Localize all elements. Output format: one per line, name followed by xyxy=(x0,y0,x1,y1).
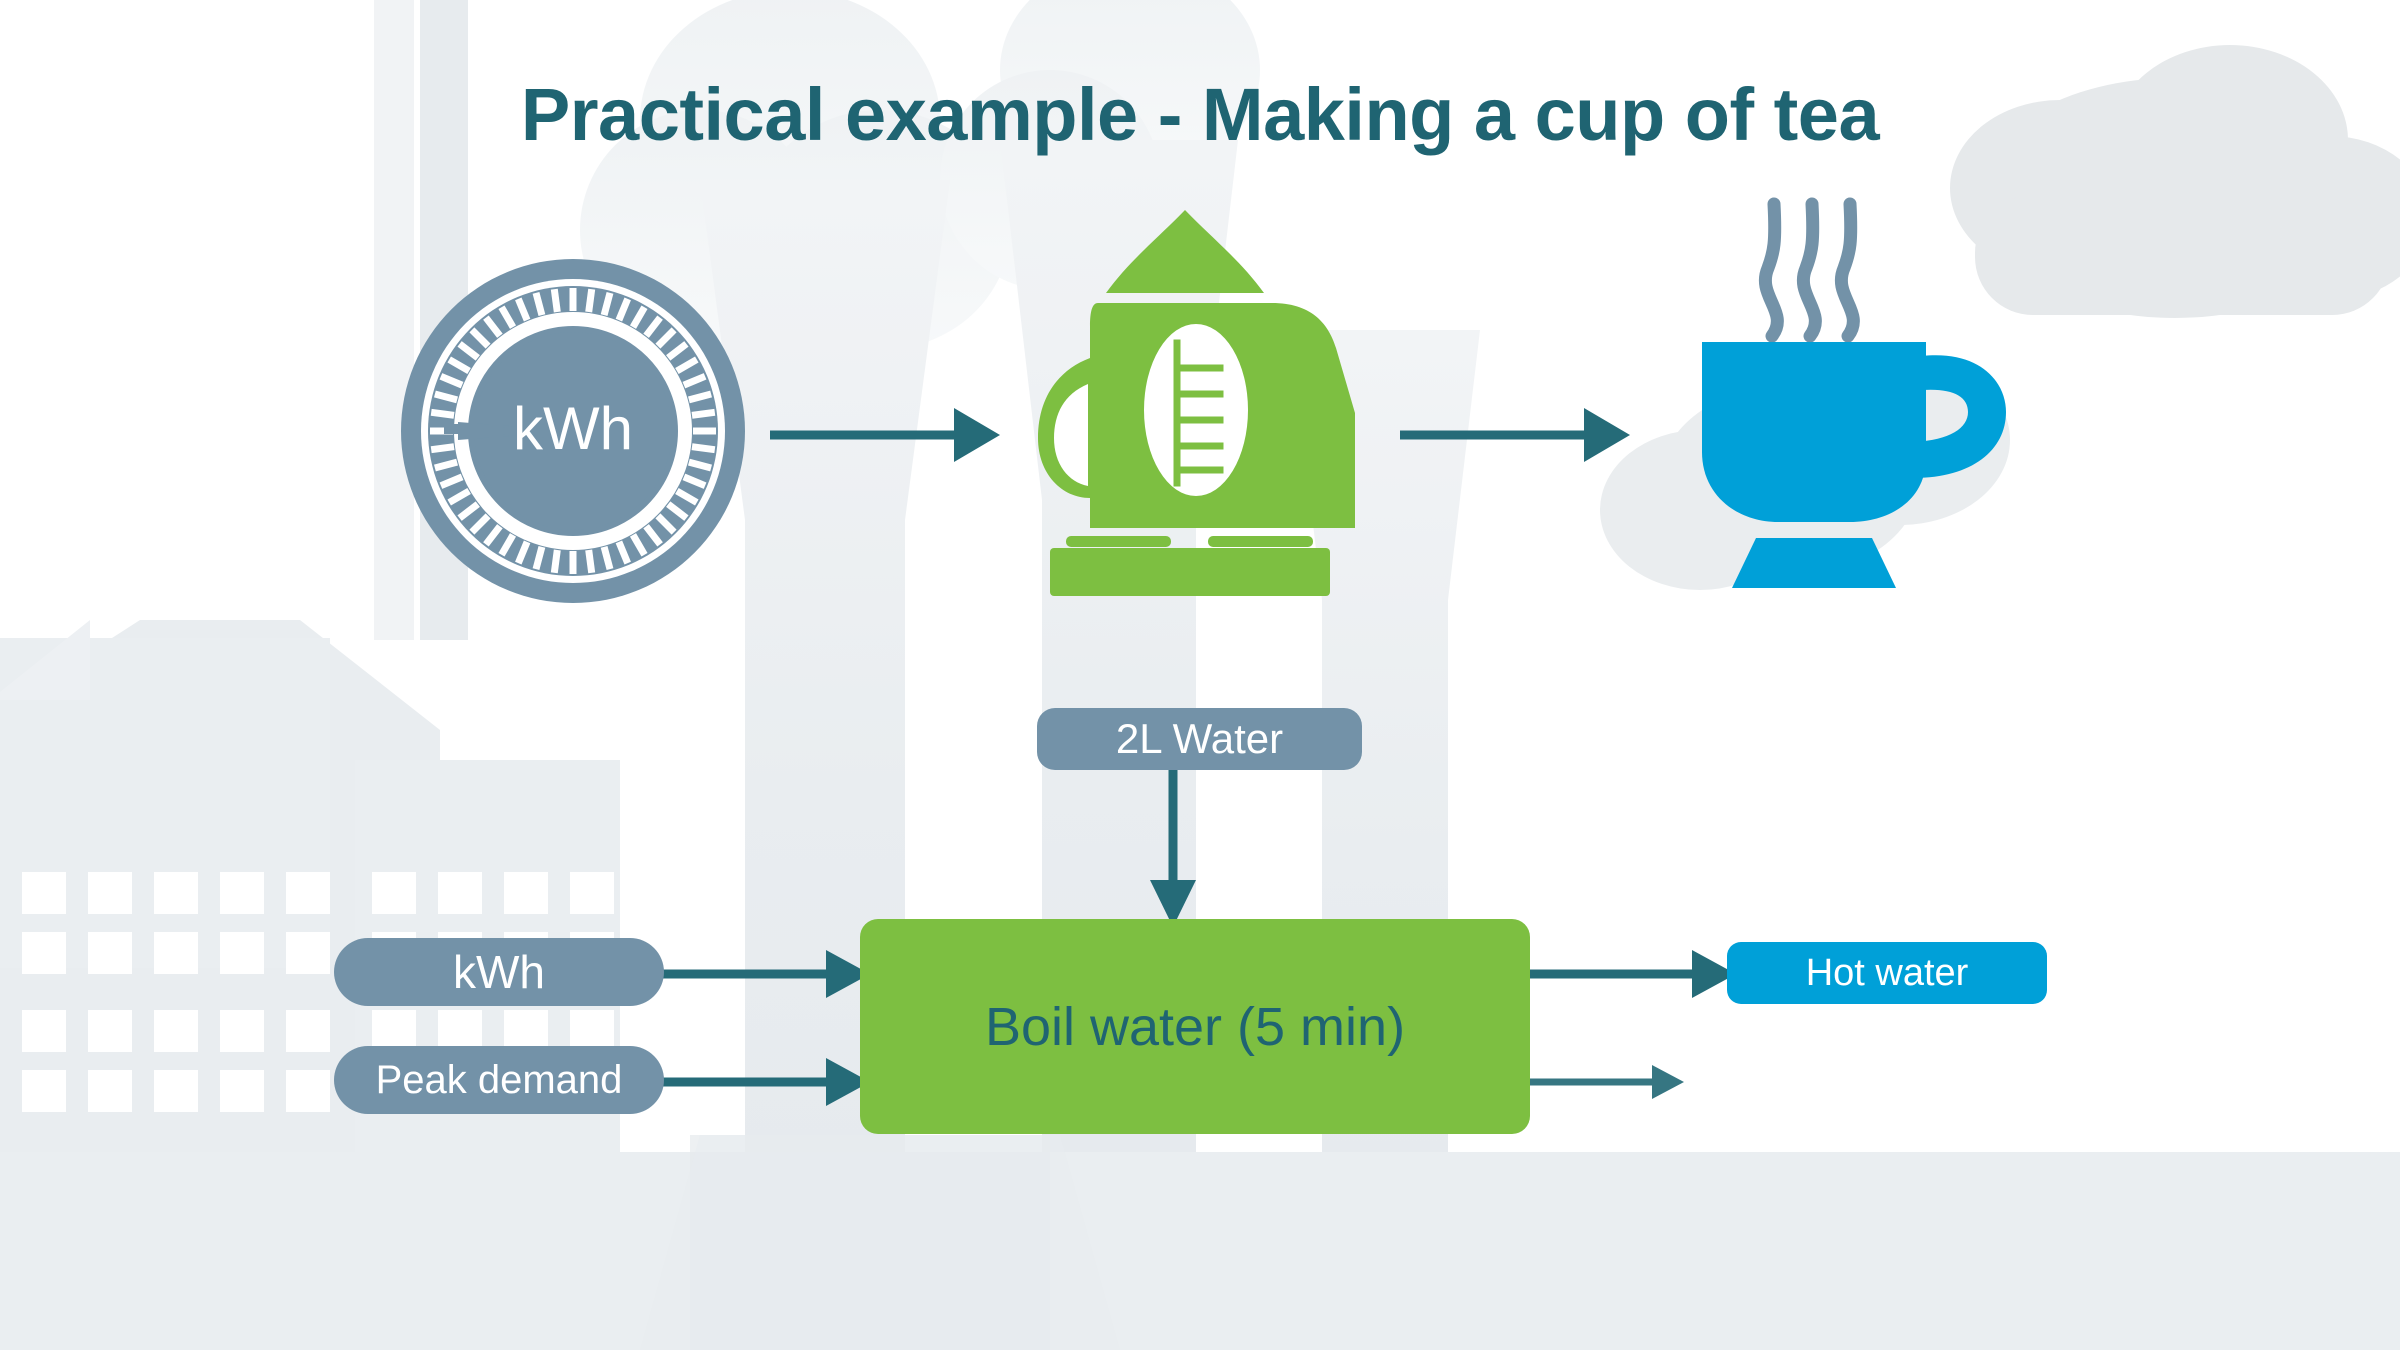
process-box-boil-water[interactable]: Boil water (5 min) xyxy=(860,919,1530,1134)
arrow-kwh-to-process xyxy=(660,948,870,1000)
electric-kettle-icon xyxy=(1010,198,1370,598)
slide-canvas: Practical example - Making a cup of tea … xyxy=(0,0,2400,1350)
output-label-hot-water-text: Hot water xyxy=(1806,952,1969,995)
steam-icon xyxy=(1765,204,1853,336)
arrow-peak-demand-to-process xyxy=(660,1056,870,1108)
output-label-hot-water[interactable]: Hot water xyxy=(1727,942,2047,1004)
process-box-label: Boil water (5 min) xyxy=(985,996,1405,1058)
meter-label: kWh xyxy=(513,395,633,462)
input-label-kwh-text: kWh xyxy=(453,945,545,999)
input-label-2l-water[interactable]: 2L Water xyxy=(1037,708,1362,770)
input-label-peak-demand[interactable]: Peak demand xyxy=(334,1046,664,1114)
input-label-peak-demand-text: Peak demand xyxy=(376,1058,623,1103)
input-label-2l-water-text: 2L Water xyxy=(1116,715,1283,763)
arrow-process-to-hot-water xyxy=(1524,948,1736,1000)
input-label-kwh[interactable]: kWh xyxy=(334,938,664,1006)
kwh-meter-icon: kWh xyxy=(398,256,748,606)
page-title: Practical example - Making a cup of tea xyxy=(0,72,2400,157)
arrow-meter-to-kettle xyxy=(770,400,1000,470)
arrow-kettle-to-cup xyxy=(1400,400,1630,470)
ground-band xyxy=(0,1152,2400,1350)
arrow-water-to-process xyxy=(1150,762,1196,927)
arrow-process-secondary-output xyxy=(1524,1056,1684,1108)
tea-cup-icon xyxy=(1700,190,2040,610)
